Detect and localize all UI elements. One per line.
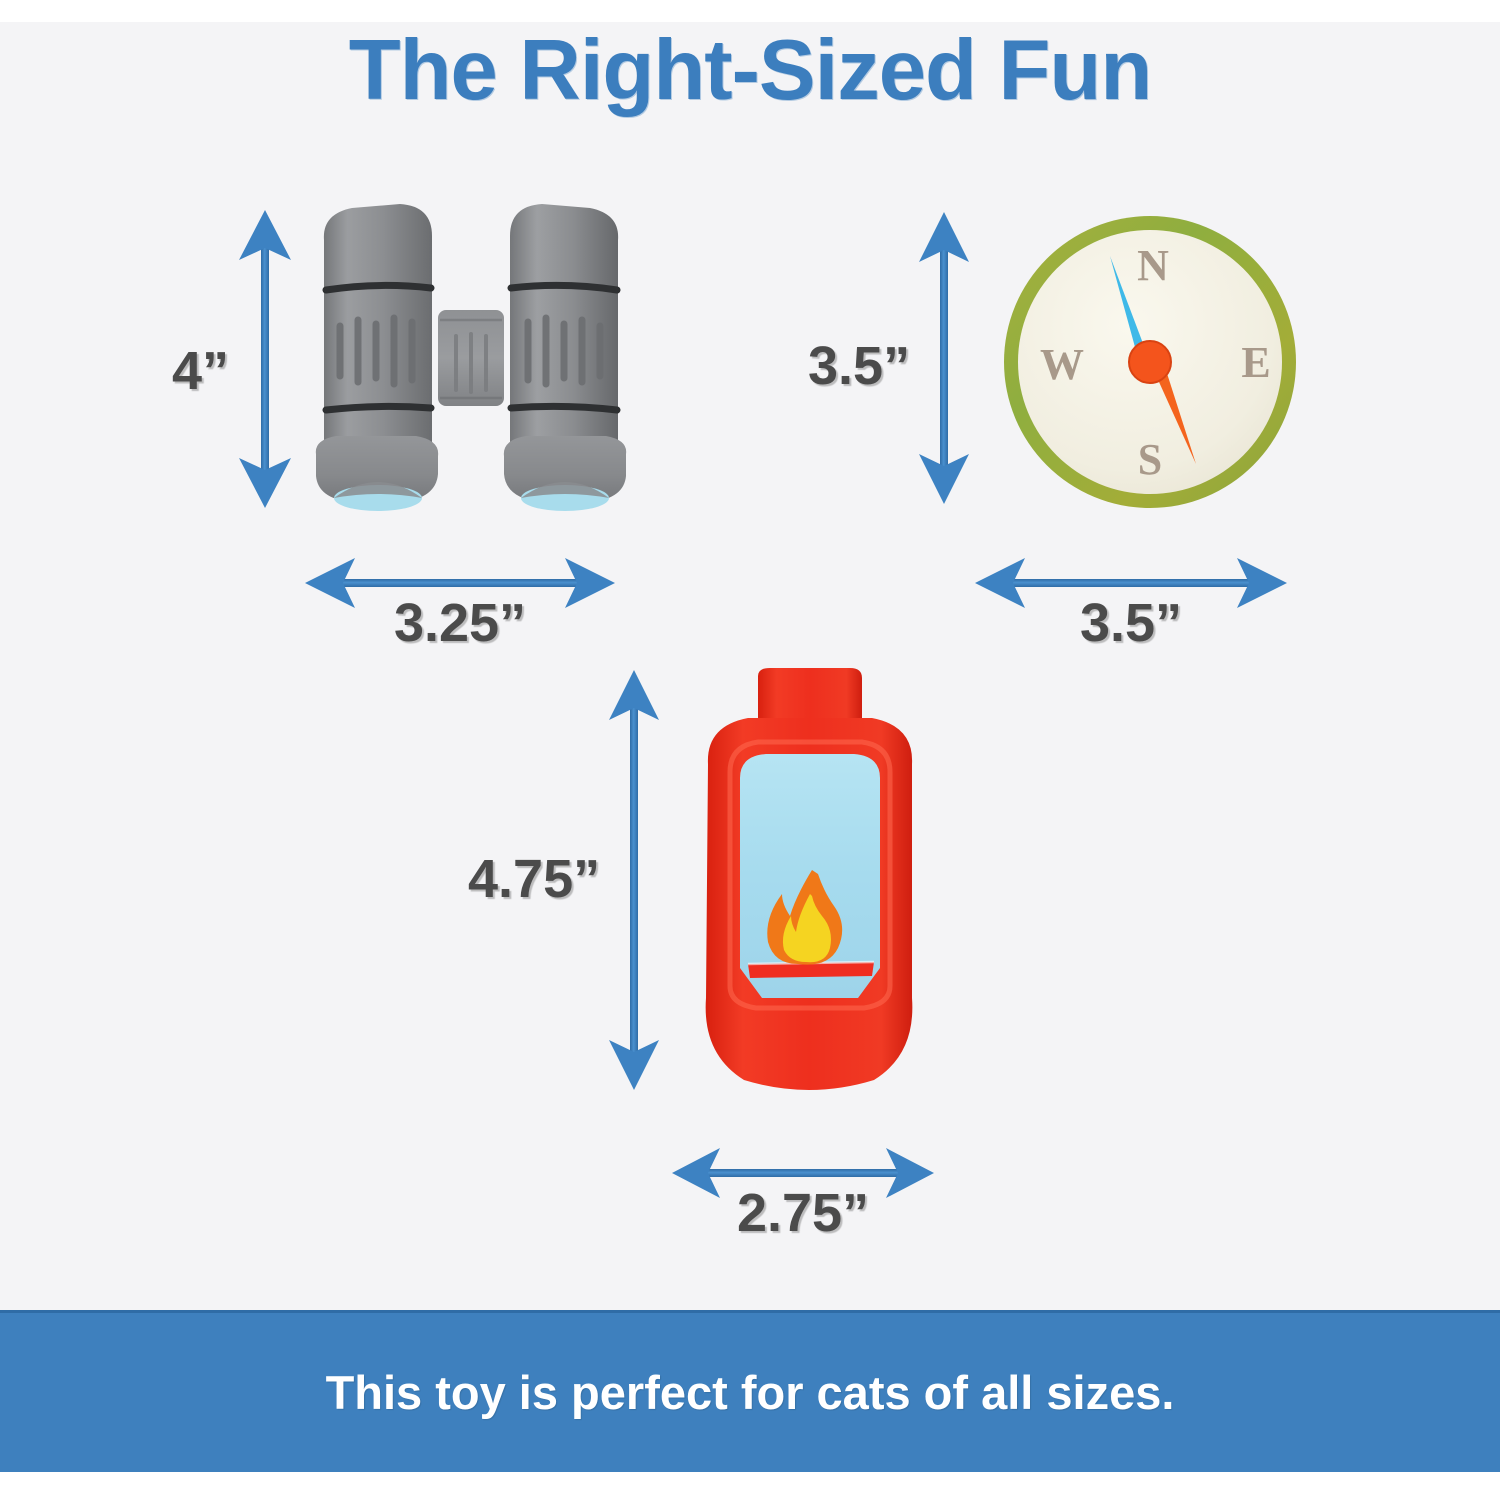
lantern-height-label: 4.75” (468, 848, 600, 910)
compass-icon: N E S W (1000, 212, 1300, 512)
top-white-strip (0, 0, 1500, 22)
compass-letter-s: S (1138, 435, 1162, 484)
lantern-icon (678, 668, 940, 1100)
lantern-width-label: 2.75” (672, 1182, 934, 1244)
page-title: The Right-Sized Fun (0, 26, 1500, 115)
compass-letter-e: E (1241, 338, 1270, 387)
compass-height-label: 3.5” (808, 335, 910, 397)
binoculars-icon (290, 198, 650, 528)
binoculars-width-label: 3.25” (305, 592, 615, 654)
compass-letter-w: W (1040, 340, 1084, 389)
bottom-white-strip (0, 1472, 1500, 1500)
binoculars-height-label: 4” (172, 340, 229, 402)
compass-letter-n: N (1137, 241, 1169, 290)
infographic-canvas: The Right-Sized Fun 4” (0, 0, 1500, 1500)
banner-text: This toy is perfect for cats of all size… (326, 1365, 1175, 1420)
compass-width-label: 3.5” (975, 592, 1287, 654)
bottom-banner: This toy is perfect for cats of all size… (0, 1310, 1500, 1472)
